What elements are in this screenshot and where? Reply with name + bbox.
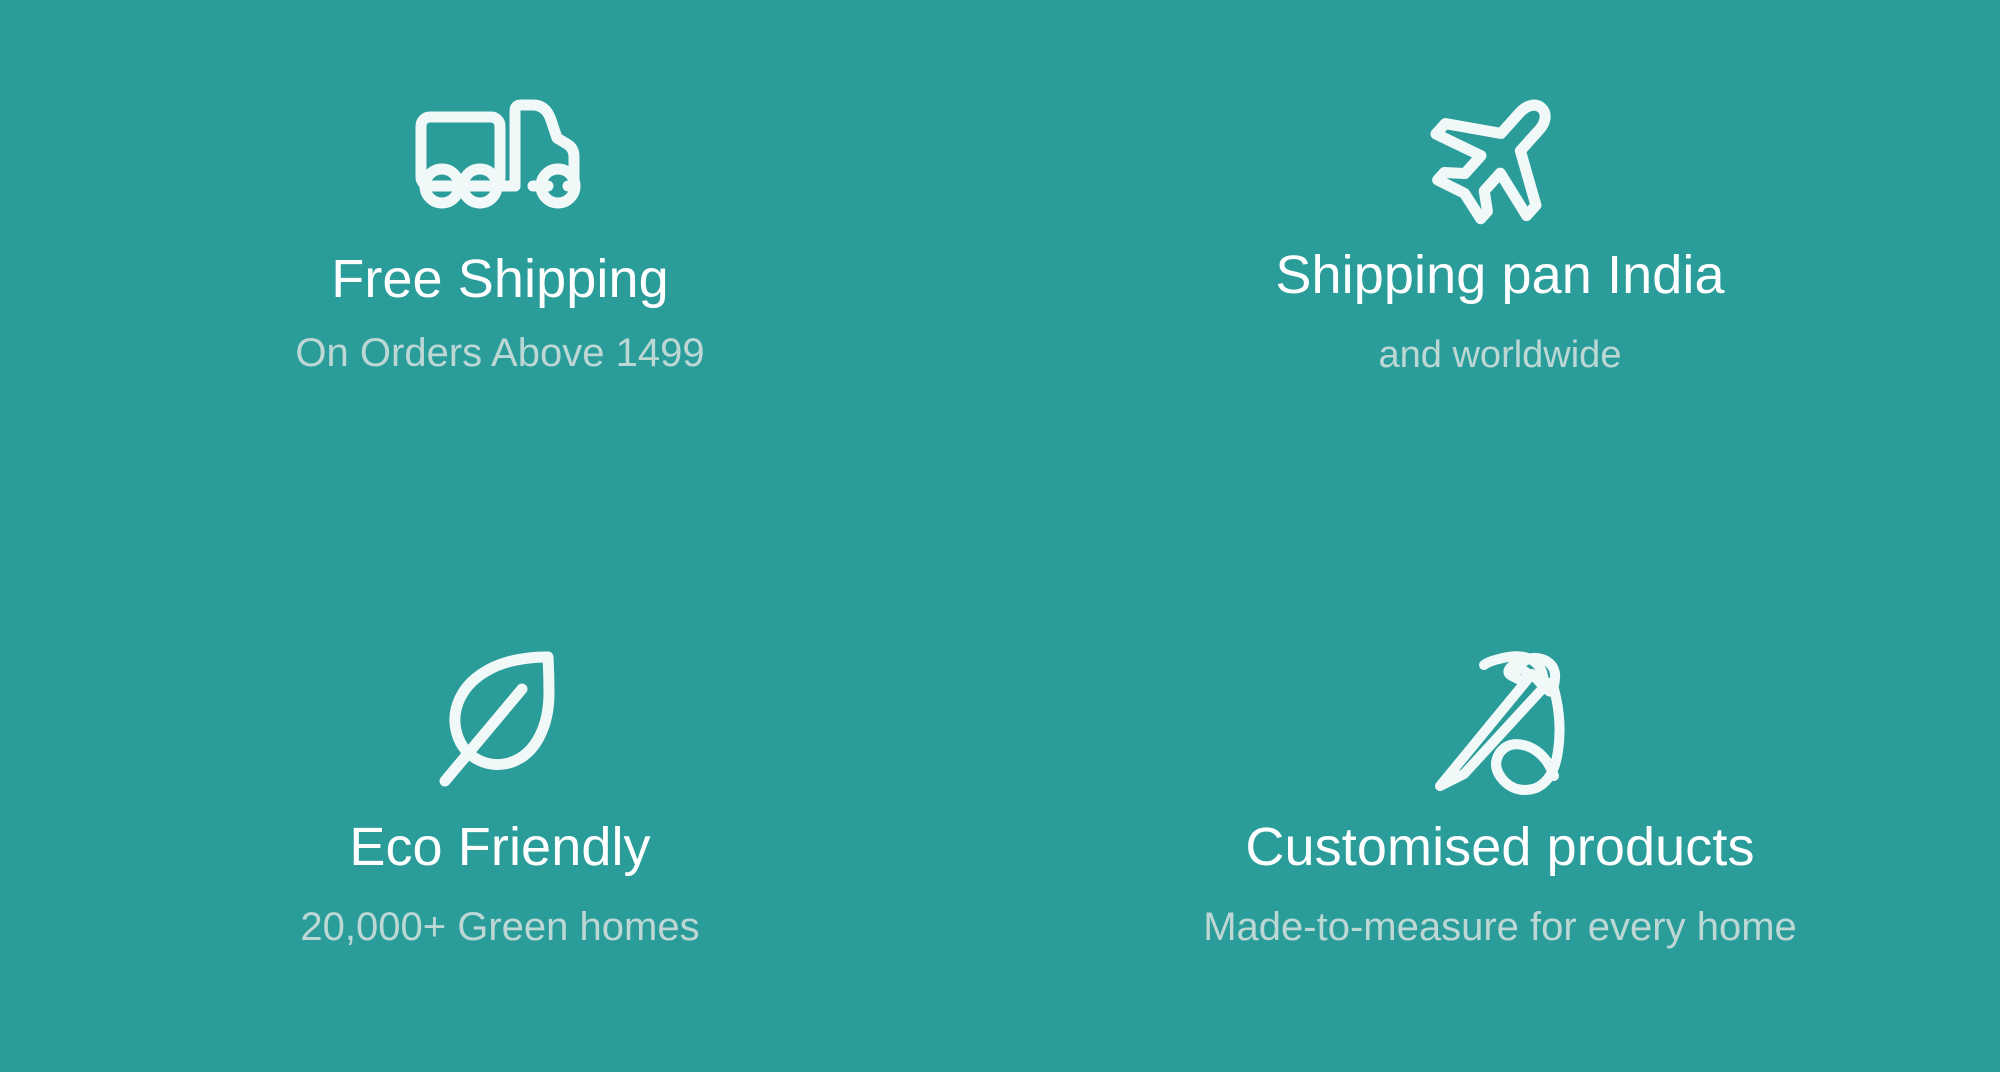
benefit-subtitle: Made-to-measure for every home: [1203, 905, 1797, 949]
benefit-title: Free Shipping: [331, 251, 669, 307]
benefit-title: Eco Friendly: [349, 819, 650, 875]
benefit-subtitle: and worldwide: [1379, 335, 1622, 377]
delivery-truck-icon: [415, 96, 585, 211]
sewing-needle-thread-icon: [1415, 646, 1585, 791]
airplane-icon: [1415, 96, 1585, 211]
benefit-card-customised-products[interactable]: Customised products Made-to-measure for …: [1000, 536, 2000, 1072]
benefit-subtitle: 20,000+ Green homes: [300, 905, 699, 949]
benefit-card-shipping-pan-india[interactable]: Shipping pan India and worldwide: [1000, 0, 2000, 536]
benefits-grid: Free Shipping On Orders Above 1499 Shipp…: [0, 0, 2000, 1072]
benefit-card-eco-friendly[interactable]: Eco Friendly 20,000+ Green homes: [0, 536, 1000, 1072]
leaf-icon: [415, 646, 585, 791]
benefit-title: Customised products: [1245, 819, 1754, 875]
benefit-title: Shipping pan India: [1275, 247, 1724, 303]
benefit-card-free-shipping[interactable]: Free Shipping On Orders Above 1499: [0, 0, 1000, 536]
benefit-subtitle: On Orders Above 1499: [295, 331, 704, 375]
